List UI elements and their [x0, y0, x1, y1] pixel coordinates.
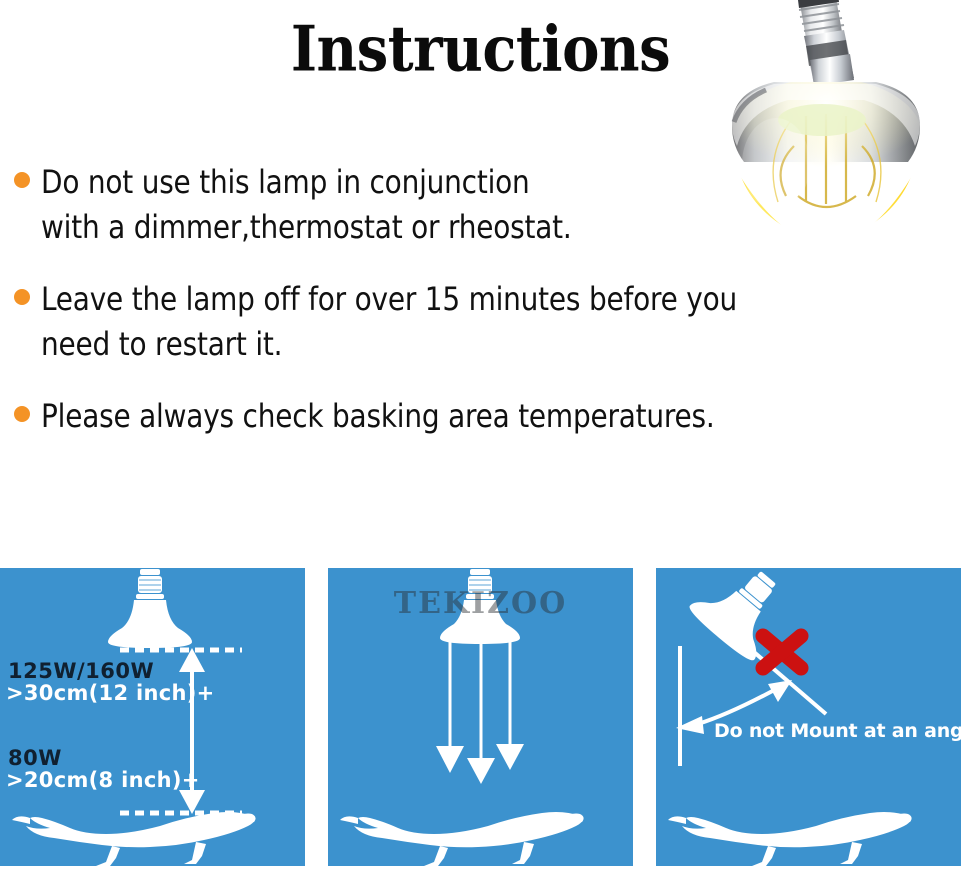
orange-dot-icon: [14, 172, 30, 188]
panel-mounting-height: 125W/160W >30cm(12 inch)+ 80W >20cm(8 in…: [0, 568, 305, 866]
distance-high-label: >30cm(12 inch)+: [6, 681, 215, 705]
distance-low-label: >20cm(8 inch)+: [6, 768, 200, 792]
instruction-text: Do not use this lamp in conjunction with…: [41, 160, 572, 251]
list-item: Please always check basking area tempera…: [14, 394, 944, 439]
light-ray-arrows-icon: [436, 642, 524, 784]
list-item: Leave the lamp off for over 15 minutes b…: [14, 277, 944, 368]
list-item: Do not use this lamp in conjunction with…: [14, 160, 944, 251]
diagram-panels: 125W/160W >30cm(12 inch)+ 80W >20cm(8 in…: [0, 568, 961, 866]
bulb-neck: [804, 30, 854, 86]
panel-do-not-angle: Do not Mount at an angle: [656, 568, 961, 866]
panel-straight-down: TEKIZOO: [328, 568, 633, 866]
wattage-high-label: 125W/160W: [8, 659, 154, 683]
wattage-low-label: 80W: [8, 746, 62, 770]
orange-dot-icon: [14, 406, 30, 422]
instruction-text: Leave the lamp off for over 15 minutes b…: [41, 277, 737, 368]
orange-dot-icon: [14, 289, 30, 305]
do-not-angle-caption: Do not Mount at an angle: [714, 720, 961, 742]
instruction-list: Do not use this lamp in conjunction with…: [14, 160, 944, 465]
instruction-text: Please always check basking area tempera…: [41, 394, 715, 439]
